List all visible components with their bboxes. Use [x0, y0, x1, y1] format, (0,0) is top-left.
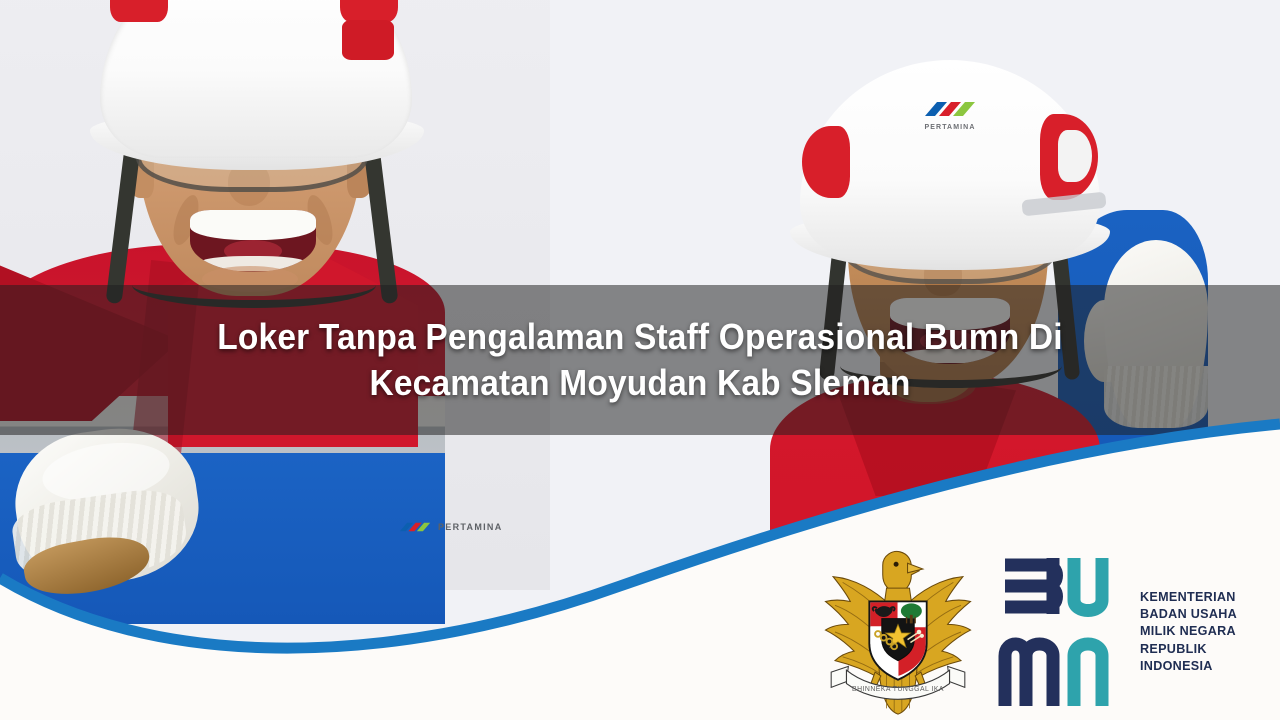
- ministry-line-4: REPUBLIK: [1140, 641, 1237, 658]
- left-worker-helmet-pertamina-logo: PERTAMINA: [186, 0, 326, 12]
- bumn-logo-icon: [998, 552, 1126, 712]
- garuda-motto-text: BHINNEKA TUNGGAL IKA: [852, 686, 944, 693]
- institution-logo-bar: BHINNEKA TUNGGAL IKA: [812, 548, 1252, 716]
- ministry-line-5: INDONESIA: [1140, 658, 1237, 675]
- ministry-line-1: KEMENTERIAN: [1140, 589, 1237, 606]
- left-worker-helmet-stripe-right-lower: [342, 20, 394, 60]
- left-worker-helmet-stripe-left: [110, 0, 168, 22]
- uniform-patch-brand-text: PERTAMINA: [438, 522, 503, 532]
- banner-image: PERTAMINA: [0, 0, 1280, 720]
- banner-title: Loker Tanpa Pengalaman Staff Operasional…: [175, 314, 1105, 406]
- ministry-name-text: KEMENTERIAN BADAN USAHA MILIK NEGARA REP…: [1140, 589, 1237, 675]
- right-worker-helmet-pertamina-logo: PERTAMINA: [888, 96, 1012, 146]
- garuda-pancasila-icon: BHINNEKA TUNGGAL IKA: [812, 548, 984, 716]
- ministry-line-3: MILIK NEGARA: [1140, 623, 1237, 640]
- banner-title-line-1: Loker Tanpa Pengalaman Staff Operasional…: [217, 316, 1063, 357]
- left-worker-teeth-upper: [190, 210, 316, 240]
- pertamina-arrow-icon: [398, 518, 432, 536]
- pertamina-arrow-icon: [922, 96, 978, 122]
- uniform-chest-patch: PERTAMINA: [398, 512, 538, 542]
- title-overlay-band: Loker Tanpa Pengalaman Staff Operasional…: [0, 285, 1280, 435]
- banner-title-line-2: Kecamatan Moyudan Kab Sleman: [369, 362, 910, 403]
- right-worker-helmet-brand-text: PERTAMINA: [925, 124, 976, 131]
- ministry-line-2: BADAN USAHA: [1140, 606, 1237, 623]
- left-worker-helmet-stripe-right: [340, 0, 398, 22]
- right-worker-helmet-stripe-inner: [1058, 130, 1092, 182]
